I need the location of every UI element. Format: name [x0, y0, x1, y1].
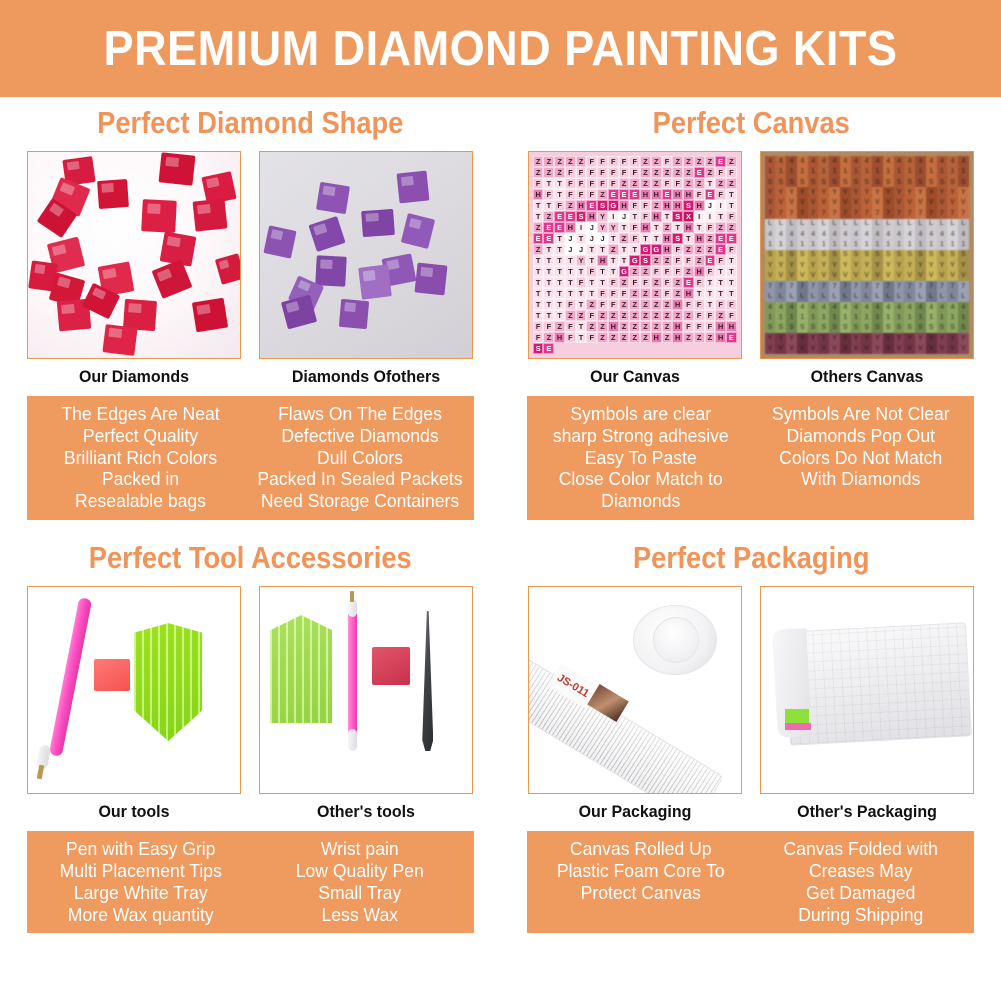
photo-our-packaging: JS-011: [528, 586, 742, 794]
pen-bottom-collar: [348, 729, 357, 751]
cons-line: Get Damaged: [758, 882, 963, 904]
photo-cell-other-packaging: Other's Packaging: [760, 586, 974, 822]
pros-line: sharp Strong adhesive: [539, 425, 744, 447]
photo-pair-tools: Our tools Othe: [0, 586, 501, 822]
caption-our-tools: Our tools: [34, 794, 235, 822]
cons-line: Flaws On The Edges: [257, 403, 462, 425]
photo-our-diamonds: [27, 151, 241, 359]
cons-line: Creases May: [758, 860, 963, 882]
cons-line: Canvas Folded with: [758, 838, 963, 860]
photo-cell-our-diamonds: Our Diamonds: [27, 151, 241, 387]
section-diamond-shape: Perfect Diamond Shape: [0, 97, 501, 520]
pros-line: Diamonds: [539, 490, 744, 512]
cons-line: With Diamonds: [758, 468, 963, 490]
photo-our-canvas: ZZZZZFFFFFZZFZZZZEZZZZFFFFFFFZZZZZEZFFFT…: [528, 151, 742, 359]
pros-line: Easy To Paste: [539, 447, 744, 469]
pen-metal-tip: [350, 591, 354, 602]
photo-others-tools: [259, 586, 473, 794]
header-banner: PREMIUM DIAMOND PAINTING KITS: [0, 0, 1001, 97]
photo-others-packaging: [760, 586, 974, 794]
pros-line: Symbols are clear: [539, 403, 744, 425]
pros-line: Large White Tray: [38, 882, 243, 904]
section-title-diamond-shape: Perfect Diamond Shape: [30, 97, 470, 151]
bubble-mailer: [784, 622, 972, 745]
caption-others-tools: Other's tools: [266, 794, 467, 822]
cons-line: Defective Diamonds: [257, 425, 462, 447]
section-packaging: Perfect Packaging JS-011 Our Packaging: [501, 532, 1001, 933]
pros-line: Close Color Match to: [539, 468, 744, 490]
cons-diamond-shape: Flaws On The Edges Defective Diamonds Du…: [255, 403, 464, 512]
pros-line: Brilliant Rich Colors: [38, 447, 242, 469]
symbol-grid-our-canvas: ZZZZZFFFFFZZFZZZZEZZZZFFFFFFFZZZZZEZFFFT…: [533, 156, 737, 354]
pros-canvas: Symbols are clear sharp Strong adhesive …: [537, 403, 746, 512]
photo-others-canvas: 44444444444444444441111111111111111111SS…: [760, 151, 974, 359]
cons-line: Less Wax: [258, 904, 463, 926]
caption-others-canvas: Others Canvas: [766, 359, 967, 387]
photo-cell-our-packaging: JS-011 Our Packaging: [528, 586, 742, 822]
green-tray: [134, 623, 202, 741]
pros-diamond-shape: The Edges Are Neat Perfect Quality Brill…: [36, 403, 244, 512]
text-panel-packaging: Canvas Rolled Up Plastic Foam Core To Pr…: [527, 831, 974, 933]
cons-line: Colors Do Not Match: [758, 447, 963, 469]
cons-line: Need Storage Containers: [257, 490, 462, 512]
photo-cell-other-diamonds: Diamonds Ofothers: [259, 151, 473, 387]
section-row-bottom: Perfect Tool Accessories Our tools: [0, 532, 1001, 933]
pros-packaging: Canvas Rolled Up Plastic Foam Core To Pr…: [537, 838, 746, 925]
caption-diamonds-ofothers: Diamonds Ofothers: [266, 359, 467, 387]
cons-line: Wrist pain: [258, 838, 463, 860]
caption-others-packaging: Other's Packaging: [766, 794, 967, 822]
photo-cell-our-tools: Our tools: [27, 586, 241, 822]
text-panel-diamond-shape: The Edges Are Neat Perfect Quality Brill…: [27, 396, 474, 520]
pros-line: Resealable bags: [38, 490, 242, 512]
tweezers: [422, 611, 433, 751]
pros-line: Packed in: [38, 468, 242, 490]
pink-pen: [49, 597, 92, 757]
section-title-packaging: Perfect Packaging: [531, 532, 971, 586]
pros-line: Perfect Quality: [38, 425, 242, 447]
section-title-canvas: Perfect Canvas: [531, 97, 971, 151]
wax-square: [94, 659, 130, 691]
mailer-contents-pink: [785, 723, 811, 730]
wax-square: [372, 647, 410, 685]
cons-line: Dull Colors: [257, 447, 462, 469]
section-title-tool-accessories: Perfect Tool Accessories: [30, 532, 470, 586]
cons-packaging: Canvas Folded with Creases May Get Damag…: [756, 838, 965, 925]
small-green-tray: [270, 615, 332, 723]
photo-cell-our-canvas: ZZZZZFFFFFZZFZZZZEZZZZFFFFFFFZZZZZEZFFFT…: [528, 151, 742, 387]
photo-cell-others-canvas: 44444444444444444441111111111111111111SS…: [760, 151, 974, 387]
pen-metal-tip: [37, 765, 45, 780]
pros-line: Canvas Rolled Up: [539, 838, 744, 860]
cons-canvas: Symbols Are Not Clear Diamonds Pop Out C…: [756, 403, 965, 512]
caption-our-packaging: Our Packaging: [534, 794, 735, 822]
text-panel-canvas: Symbols are clear sharp Strong adhesive …: [527, 396, 974, 520]
section-tool-accessories: Perfect Tool Accessories Our tools: [0, 532, 501, 933]
caption-our-canvas: Our Canvas: [534, 359, 735, 387]
photo-our-tools: [27, 586, 241, 794]
tube-cap-inner: [653, 617, 699, 663]
cons-line: Small Tray: [258, 882, 463, 904]
pros-line: Pen with Easy Grip: [38, 838, 243, 860]
cons-line: During Shipping: [758, 904, 963, 926]
pros-tools: Pen with Easy Grip Multi Placement Tips …: [36, 838, 245, 925]
symbol-grid-others-canvas: 44444444444444444441111111111111111111SS…: [765, 156, 969, 354]
photo-pair-diamond-shape: Our Diamonds Dia: [0, 151, 501, 387]
photo-cell-other-tools: Other's tools: [259, 586, 473, 822]
text-panel-tools: Pen with Easy Grip Multi Placement Tips …: [27, 831, 474, 933]
section-canvas: Perfect Canvas ZZZZZFFFFFZZFZZZZEZZZZFFF…: [501, 97, 1001, 520]
cons-line: Packed In Sealed Packets: [257, 468, 462, 490]
cons-line: Symbols Are Not Clear: [758, 403, 963, 425]
pros-line: The Edges Are Neat: [38, 403, 242, 425]
pros-line: Plastic Foam Core To: [539, 860, 744, 882]
pros-line: More Wax quantity: [38, 904, 243, 926]
page-title: PREMIUM DIAMOND PAINTING KITS: [104, 21, 898, 77]
photo-diamonds-ofothers: [259, 151, 473, 359]
pros-line: Protect Canvas: [539, 882, 744, 904]
cons-tools: Wrist pain Low Quality Pen Small Tray Le…: [256, 838, 465, 925]
photo-pair-packaging: JS-011 Our Packaging Other's Packaging: [501, 586, 1001, 822]
section-row-top: Perfect Diamond Shape: [0, 97, 1001, 520]
cons-line: Low Quality Pen: [258, 860, 463, 882]
caption-our-diamonds: Our Diamonds: [34, 359, 235, 387]
pros-line: Multi Placement Tips: [38, 860, 243, 882]
cons-line: Diamonds Pop Out: [758, 425, 963, 447]
pink-pen: [348, 607, 357, 745]
photo-pair-canvas: ZZZZZFFFFFZZFZZZZEZZZZFFFFFFFZZZZZEZFFFT…: [501, 151, 1001, 387]
